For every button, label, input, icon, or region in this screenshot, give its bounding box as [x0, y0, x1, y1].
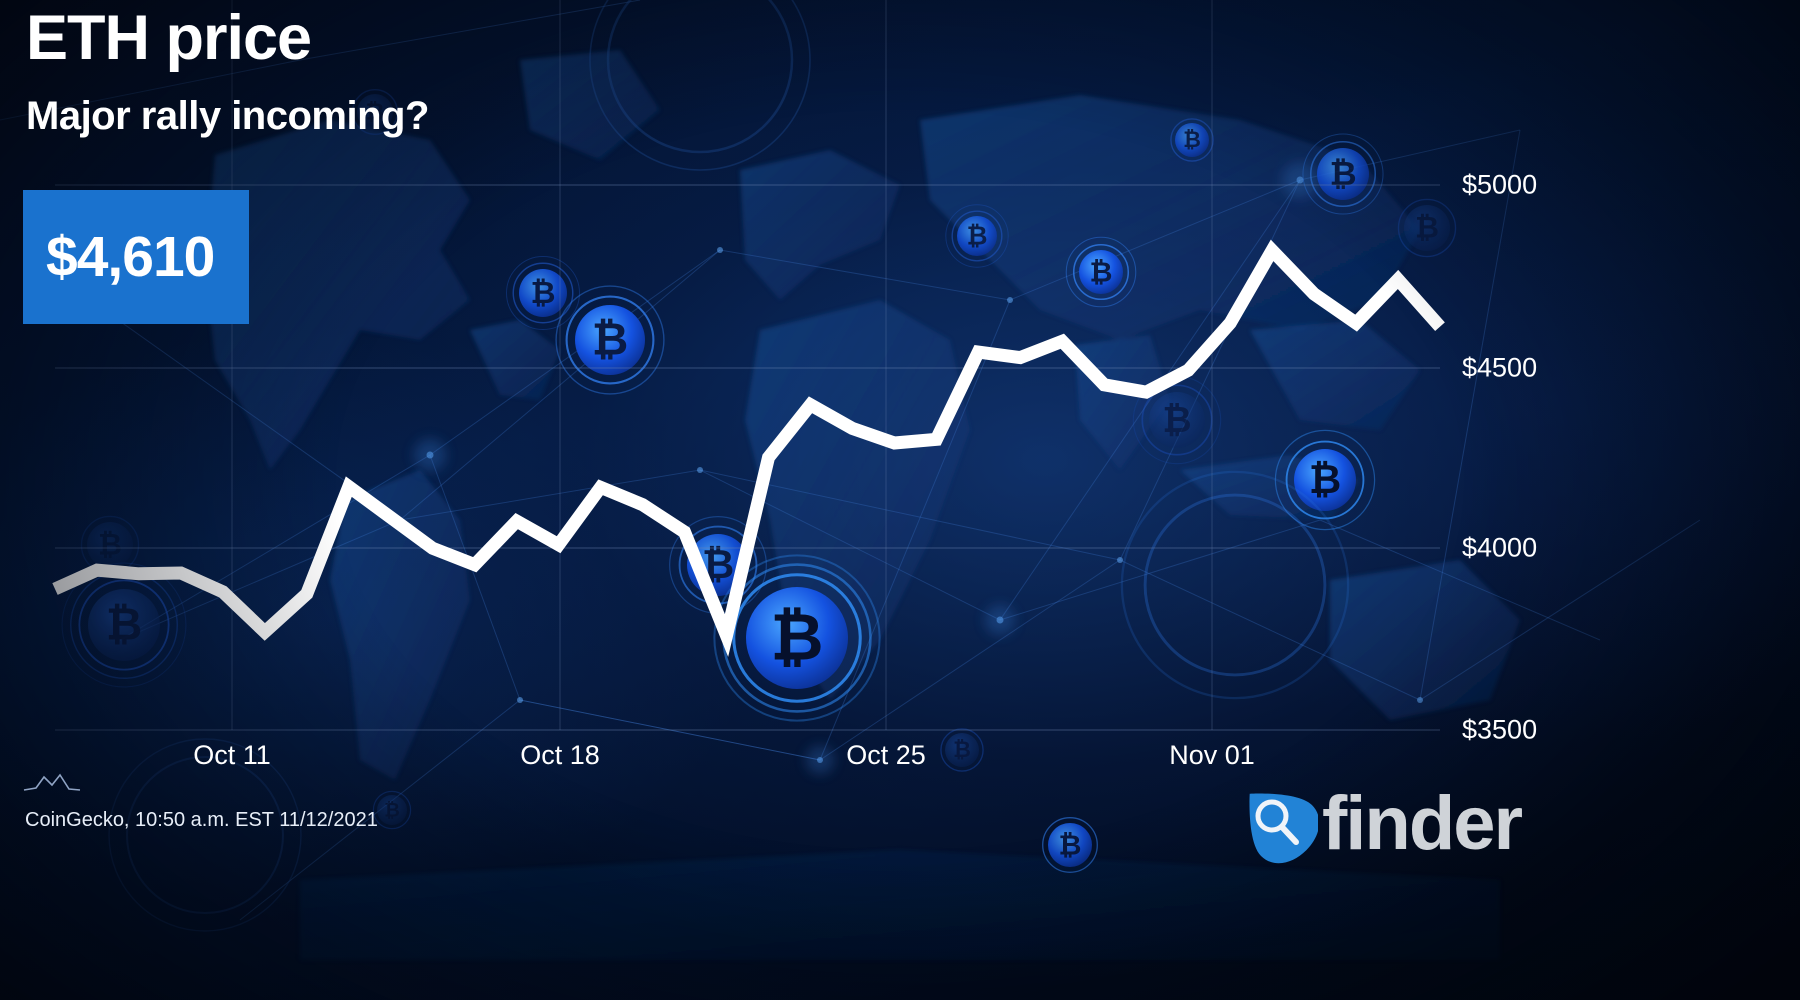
x-axis-label-oct-11: Oct 11 [193, 740, 271, 771]
x-axis-label-nov-01: Nov 01 [1169, 740, 1255, 771]
finder-wordmark: finder [1322, 786, 1521, 862]
infographic-canvas: ₿ ₿ ₿ ₿ [0, 0, 1800, 1000]
magnifier-droplet-icon [1238, 780, 1318, 864]
finder-logo[interactable]: finder [1238, 780, 1521, 864]
current-price-value: $4,610 [46, 224, 214, 290]
y-axis-label-3500: $3500 [1462, 715, 1537, 746]
y-axis-label-4500: $4500 [1462, 353, 1537, 384]
current-price-badge: $4,610 [23, 190, 249, 324]
mountain-sparkline-icon [22, 768, 82, 796]
data-source-attribution: CoinGecko, 10:50 a.m. EST 11/12/2021 [25, 809, 378, 832]
y-axis-label-4000: $4000 [1462, 533, 1537, 564]
price-line-chart [0, 0, 1800, 1000]
x-axis-label-oct-25: Oct 25 [846, 740, 926, 771]
page-subtitle: Major rally incoming? [26, 95, 429, 137]
y-axis-label-5000: $5000 [1462, 170, 1537, 201]
page-title: ETH price [26, 6, 311, 72]
x-axis-label-oct-18: Oct 18 [520, 740, 600, 771]
eth-price-line [55, 250, 1440, 635]
